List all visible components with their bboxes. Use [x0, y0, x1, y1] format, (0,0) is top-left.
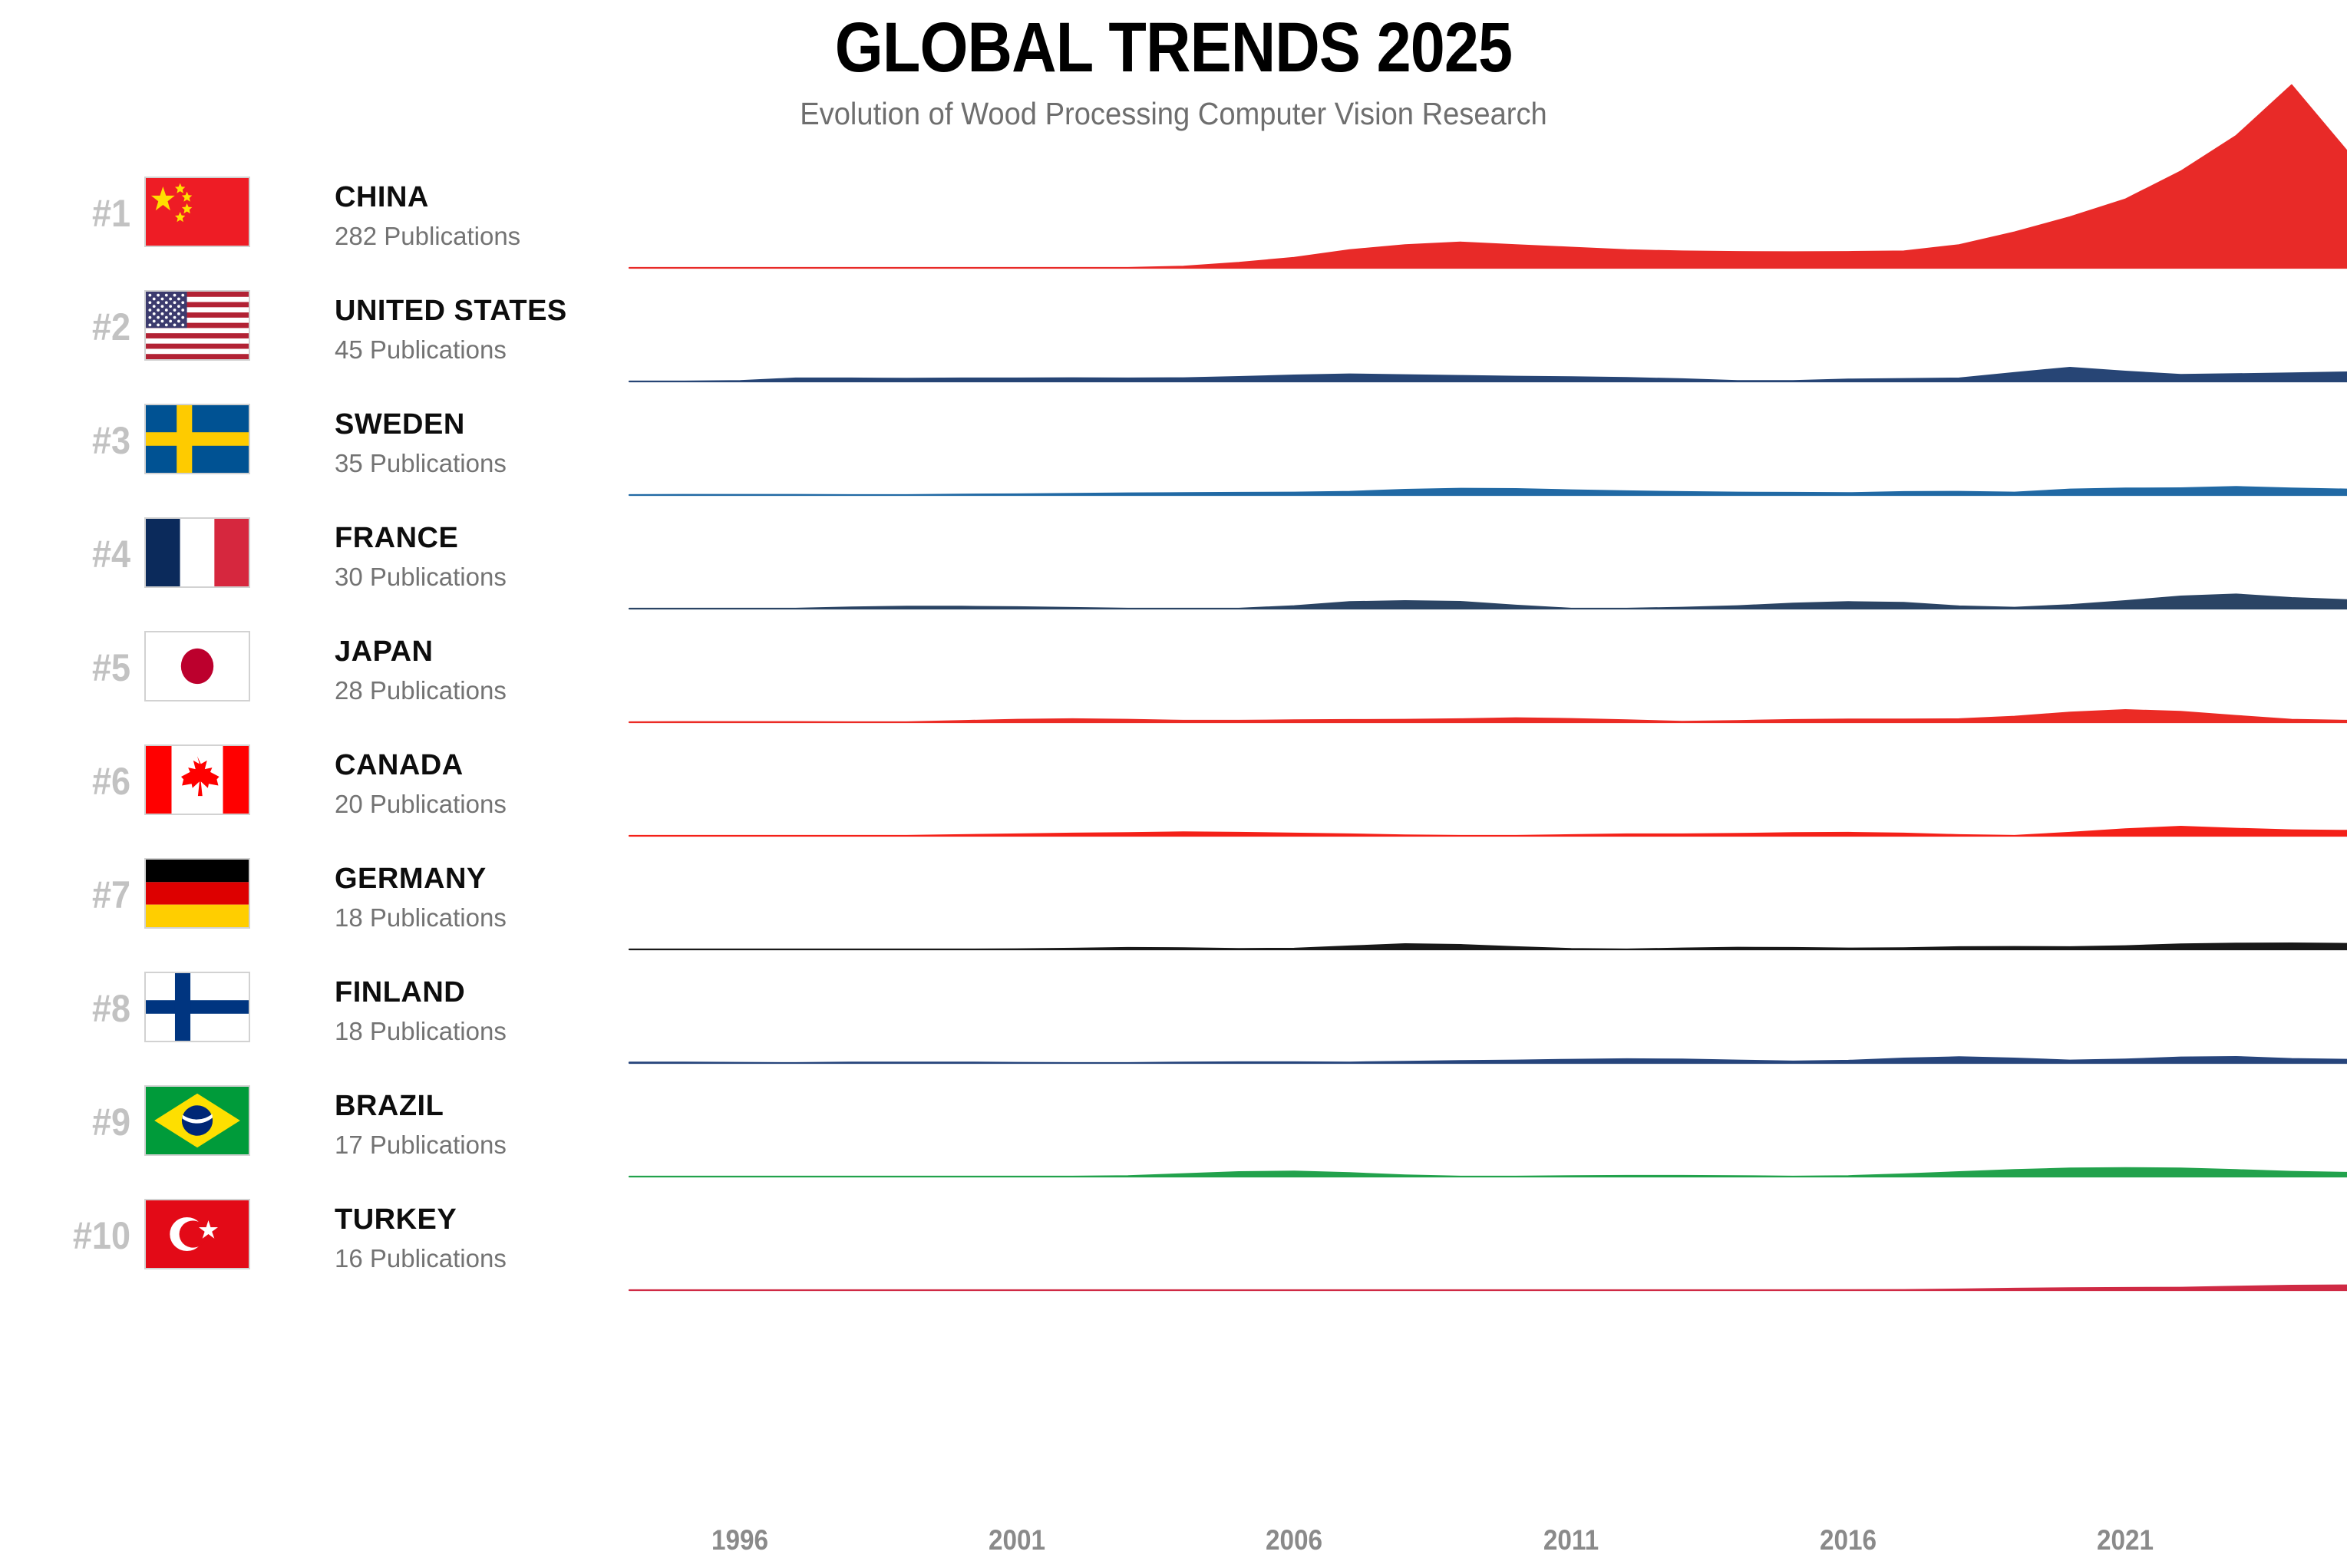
page-subtitle: Evolution of Wood Processing Computer Vi… — [82, 83, 2265, 130]
publication-count: 35 Publications — [335, 439, 764, 476]
publication-count: 18 Publications — [335, 1007, 764, 1044]
country-name: UNITED STATES — [335, 296, 764, 325]
flag-sweden-icon — [144, 404, 250, 474]
publication-count: 45 Publications — [335, 325, 764, 362]
country-label-block: FRANCE30 Publications — [335, 523, 764, 589]
rank-label: #2 — [27, 308, 130, 346]
country-name: JAPAN — [335, 637, 764, 666]
x-axis-tick-label: 2011 — [1543, 1524, 1599, 1556]
publication-count: 282 Publications — [335, 212, 764, 249]
publication-count: 28 Publications — [335, 666, 764, 703]
country-label-block: FINLAND18 Publications — [335, 978, 764, 1044]
flag-united-states-icon — [144, 290, 250, 361]
ridgeline-row: #10 TURKEY16 Publications — [0, 1177, 2347, 1288]
ridgeline-rows: #1 CHINA282 Publications#2 — [0, 142, 2347, 1520]
x-axis-tick-label: 1996 — [711, 1524, 768, 1556]
country-name: CHINA — [335, 183, 764, 212]
ridgeline-row: #5 JAPAN28 Publications — [0, 609, 2347, 720]
rank-label: #7 — [27, 876, 130, 914]
x-axis-tick-label: 2001 — [989, 1524, 1045, 1556]
x-axis-tick-label: 2021 — [2097, 1524, 2154, 1556]
country-label-block: JAPAN28 Publications — [335, 637, 764, 703]
country-label-block: GERMANY18 Publications — [335, 864, 764, 930]
flag-turkey-icon — [144, 1199, 250, 1269]
rank-label: #10 — [27, 1216, 130, 1255]
publication-count: 30 Publications — [335, 553, 764, 589]
ridgeline-row: #2 UNITED STATES45 Publications — [0, 268, 2347, 379]
country-name: FINLAND — [335, 978, 764, 1007]
page-title: GLOBAL TRENDS 2025 — [140, 0, 2206, 83]
country-name: CANADA — [335, 751, 764, 780]
rank-label: #9 — [27, 1103, 130, 1141]
chart-header: GLOBAL TRENDS 2025 Evolution of Wood Pro… — [0, 0, 2347, 142]
country-name: GERMANY — [335, 864, 764, 893]
country-label-block: UNITED STATES45 Publications — [335, 296, 764, 362]
x-axis-tick-label: 2016 — [1820, 1524, 1877, 1556]
rank-label: #8 — [27, 989, 130, 1028]
country-name: FRANCE — [335, 523, 764, 553]
ridgeline-row: #9 BRAZIL17 Publications — [0, 1063, 2347, 1174]
ridgeline-row: #4 FRANCE30 Publications — [0, 495, 2347, 606]
publication-count: 20 Publications — [335, 780, 764, 817]
flag-china-icon — [144, 177, 250, 247]
country-label-block: CANADA20 Publications — [335, 751, 764, 817]
country-label-block: TURKEY16 Publications — [335, 1205, 764, 1271]
flag-finland-icon — [144, 972, 250, 1042]
flag-canada-icon — [144, 744, 250, 815]
country-label-block: SWEDEN35 Publications — [335, 410, 764, 476]
flag-brazil-icon — [144, 1085, 250, 1156]
ridgeline-row: #7 GERMANY18 Publications — [0, 836, 2347, 947]
publication-count: 16 Publications — [335, 1234, 764, 1271]
rank-label: #1 — [27, 194, 130, 233]
ridgeline-row: #8 FINLAND18 Publications — [0, 949, 2347, 1061]
rank-label: #4 — [27, 535, 130, 573]
publication-count: 17 Publications — [335, 1121, 764, 1157]
publication-count: 18 Publications — [335, 893, 764, 930]
rank-label: #5 — [27, 649, 130, 687]
flag-japan-icon — [144, 631, 250, 701]
country-label-block: BRAZIL17 Publications — [335, 1091, 764, 1157]
ridgeline-row: #1 CHINA282 Publications — [0, 154, 2347, 266]
rank-label: #6 — [27, 762, 130, 801]
ridgeline-row: #6 CANADA20 Publications — [0, 722, 2347, 834]
flag-germany-icon — [144, 858, 250, 929]
x-axis-tick-label: 2006 — [1266, 1524, 1322, 1556]
country-name: TURKEY — [335, 1205, 764, 1234]
x-axis: 199620012006201120162021 — [0, 1520, 2347, 1568]
country-name: BRAZIL — [335, 1091, 764, 1121]
ridgeline-row: #3 SWEDEN35 Publications — [0, 381, 2347, 493]
flag-france-icon — [144, 517, 250, 588]
country-label-block: CHINA282 Publications — [335, 183, 764, 249]
country-name: SWEDEN — [335, 410, 764, 439]
rank-label: #3 — [27, 421, 130, 460]
